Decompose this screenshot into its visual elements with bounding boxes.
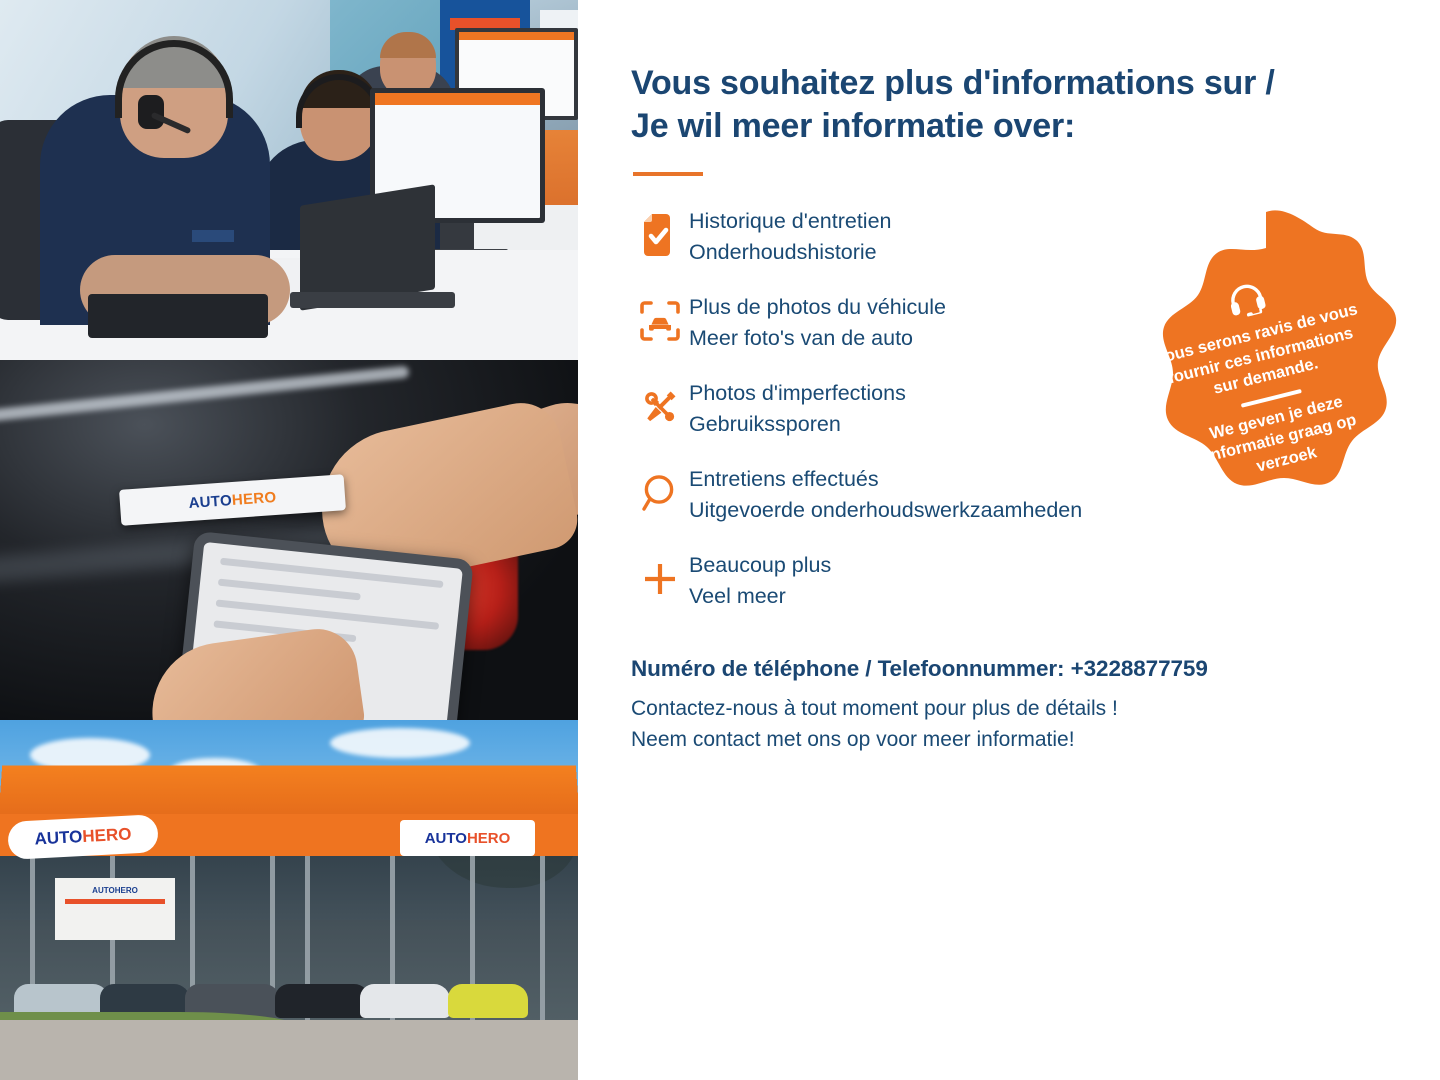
contact-line-nl: Neem contact met ons op voor meer inform… <box>631 724 1400 755</box>
feature-label-fr: Historique d'entretien <box>689 206 892 237</box>
plus-icon <box>631 550 689 608</box>
feature-label-fr: Entretiens effectués <box>689 464 1082 495</box>
contact-line-fr: Contactez-nous à tout moment pour plus d… <box>631 693 1400 724</box>
feature-label-nl: Onderhoudshistorie <box>689 237 892 268</box>
headline-line-nl: Je wil meer informatie over: <box>631 105 1400 148</box>
tablet-row <box>218 579 361 601</box>
interior-banner: AUTOHERO <box>55 878 175 940</box>
content-panel: Vous souhaitez plus d'informations sur /… <box>578 0 1440 1080</box>
photo-column: AUTOHERO AUT <box>0 0 578 1080</box>
feature-label-fr: Plus de photos du véhicule <box>689 292 946 323</box>
contact-block: Numéro de téléphone / Telefoonnummer: +3… <box>631 656 1400 755</box>
page-title: Vous souhaitez plus d'informations sur /… <box>631 62 1400 148</box>
marketing-infographic-page: AUTOHERO AUT <box>0 0 1440 1080</box>
headline-line-fr: Vous souhaitez plus d'informations sur / <box>631 64 1275 102</box>
monitor-stand <box>440 223 474 251</box>
call-center-agents-photo <box>0 0 578 360</box>
list-item-text: Historique d'entretien Onderhoudshistori… <box>689 204 892 267</box>
phone-number-line: Numéro de téléphone / Telefoonnummer: +3… <box>631 656 1400 682</box>
list-item-text: Entretiens effectués Uitgevoerde onderho… <box>689 462 1082 525</box>
list-item-text: Photos d'imperfections Gebruikssporen <box>689 376 906 439</box>
callout-badge: Nous serons ravis de vous fournir ces in… <box>1131 208 1401 546</box>
feature-label-nl: Meer foto's van de auto <box>689 323 946 354</box>
showroom-car <box>360 984 450 1018</box>
autohero-sign-right: AUTOHERO <box>400 820 535 856</box>
headset-icon <box>1223 278 1271 326</box>
facade-mullion <box>540 852 545 1042</box>
title-divider <box>633 172 703 176</box>
feature-label-nl: Gebruikssporen <box>689 409 906 440</box>
pavement <box>0 1020 578 1080</box>
interior-banner-bar <box>65 899 165 904</box>
document-check-icon <box>631 206 689 264</box>
feature-label-fr: Photos d'imperfections <box>689 378 906 409</box>
ruler-logo: AUTOHERO <box>188 488 277 511</box>
list-item-text: Beaucoup plus Veel meer <box>689 548 831 611</box>
autohero-sign-left: AUTOHERO <box>7 814 159 860</box>
feature-label-nl: Veel meer <box>689 581 831 612</box>
wrench-screwdriver-icon <box>631 378 689 436</box>
agent-one-name-badge <box>192 230 234 242</box>
list-item-text: Plus de photos du véhicule Meer foto's v… <box>689 290 946 353</box>
autohero-showroom-photo: AUTOHERO AUTOHERO AUTOHERO <box>0 720 578 1080</box>
magnifier-icon <box>631 464 689 522</box>
showroom-car <box>275 984 370 1018</box>
desk-tablet <box>88 294 268 338</box>
vehicle-inspection-photo: AUTOHERO <box>0 360 578 720</box>
car-scan-icon <box>631 292 689 350</box>
feature-label-fr: Beaucoup plus <box>689 550 831 581</box>
interior-banner-logo: AUTOHERO <box>55 886 175 895</box>
laptop-base <box>290 292 455 308</box>
feature-label-nl: Uitgevoerde onderhoudswerkzaamheden <box>689 495 1082 526</box>
list-item: Beaucoup plus Veel meer <box>631 548 1400 611</box>
showroom-car <box>448 984 528 1018</box>
cloud <box>330 728 470 758</box>
agent-one-earcup <box>138 95 164 129</box>
